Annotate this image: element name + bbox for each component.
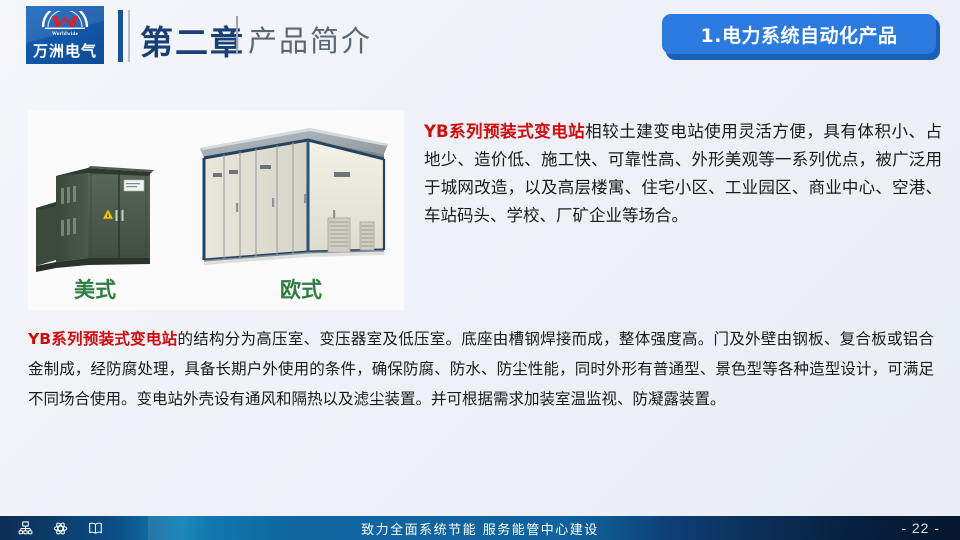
company-logo: Worldwide 万洲电气 <box>26 6 104 64</box>
w-shield-icon <box>26 10 104 34</box>
slide-header: Worldwide 万洲电气 第二章 产品简介 1.电力系统自动化产品 <box>0 0 960 82</box>
slide-footer: 致力全面系统节能 服务能管中心建设 - 22 - <box>0 516 960 540</box>
logo-english-name: Worldwide <box>26 32 104 37</box>
logo-chinese-name: 万洲电气 <box>26 40 104 61</box>
slide-canvas: Worldwide 万洲电气 第二章 产品简介 1.电力系统自动化产品 <box>0 0 960 540</box>
gear-icon[interactable] <box>53 521 68 536</box>
header-accent-bar-gray <box>128 10 130 62</box>
footer-highlight-diagonal <box>148 516 208 540</box>
section-badge-body: 1.电力系统自动化产品 <box>662 14 936 54</box>
product-photo: 美式 欧式 <box>28 110 404 310</box>
section-badge-label: 1.电力系统自动化产品 <box>701 21 898 48</box>
header-accent-bar-blue <box>118 10 123 62</box>
chapter-subtitle: 产品简介 <box>248 18 372 60</box>
caption-european-style: 欧式 <box>280 274 322 304</box>
structure-highlight: YB系列预装式变电站 <box>28 330 177 348</box>
caption-american-style: 美式 <box>74 274 116 304</box>
intro-paragraph: YB系列预装式变电站相较土建变电站使用灵活方便，具有体积小、占地少、造价低、施工… <box>424 118 942 230</box>
footer-icon-group <box>18 516 103 540</box>
sitemap-icon[interactable] <box>18 521 33 536</box>
book-icon[interactable] <box>88 521 103 536</box>
intro-highlight: YB系列预装式变电站 <box>424 122 585 141</box>
structure-paragraph: YB系列预装式变电站的结构分为高压室、变压器室及低压室。底座由槽钢焊接而成，整体… <box>28 324 934 414</box>
chapter-title: 第二章 <box>140 16 245 64</box>
chapter-divider <box>236 16 238 54</box>
section-badge[interactable]: 1.电力系统自动化产品 <box>662 14 940 58</box>
page-number: - 22 - <box>901 516 940 540</box>
